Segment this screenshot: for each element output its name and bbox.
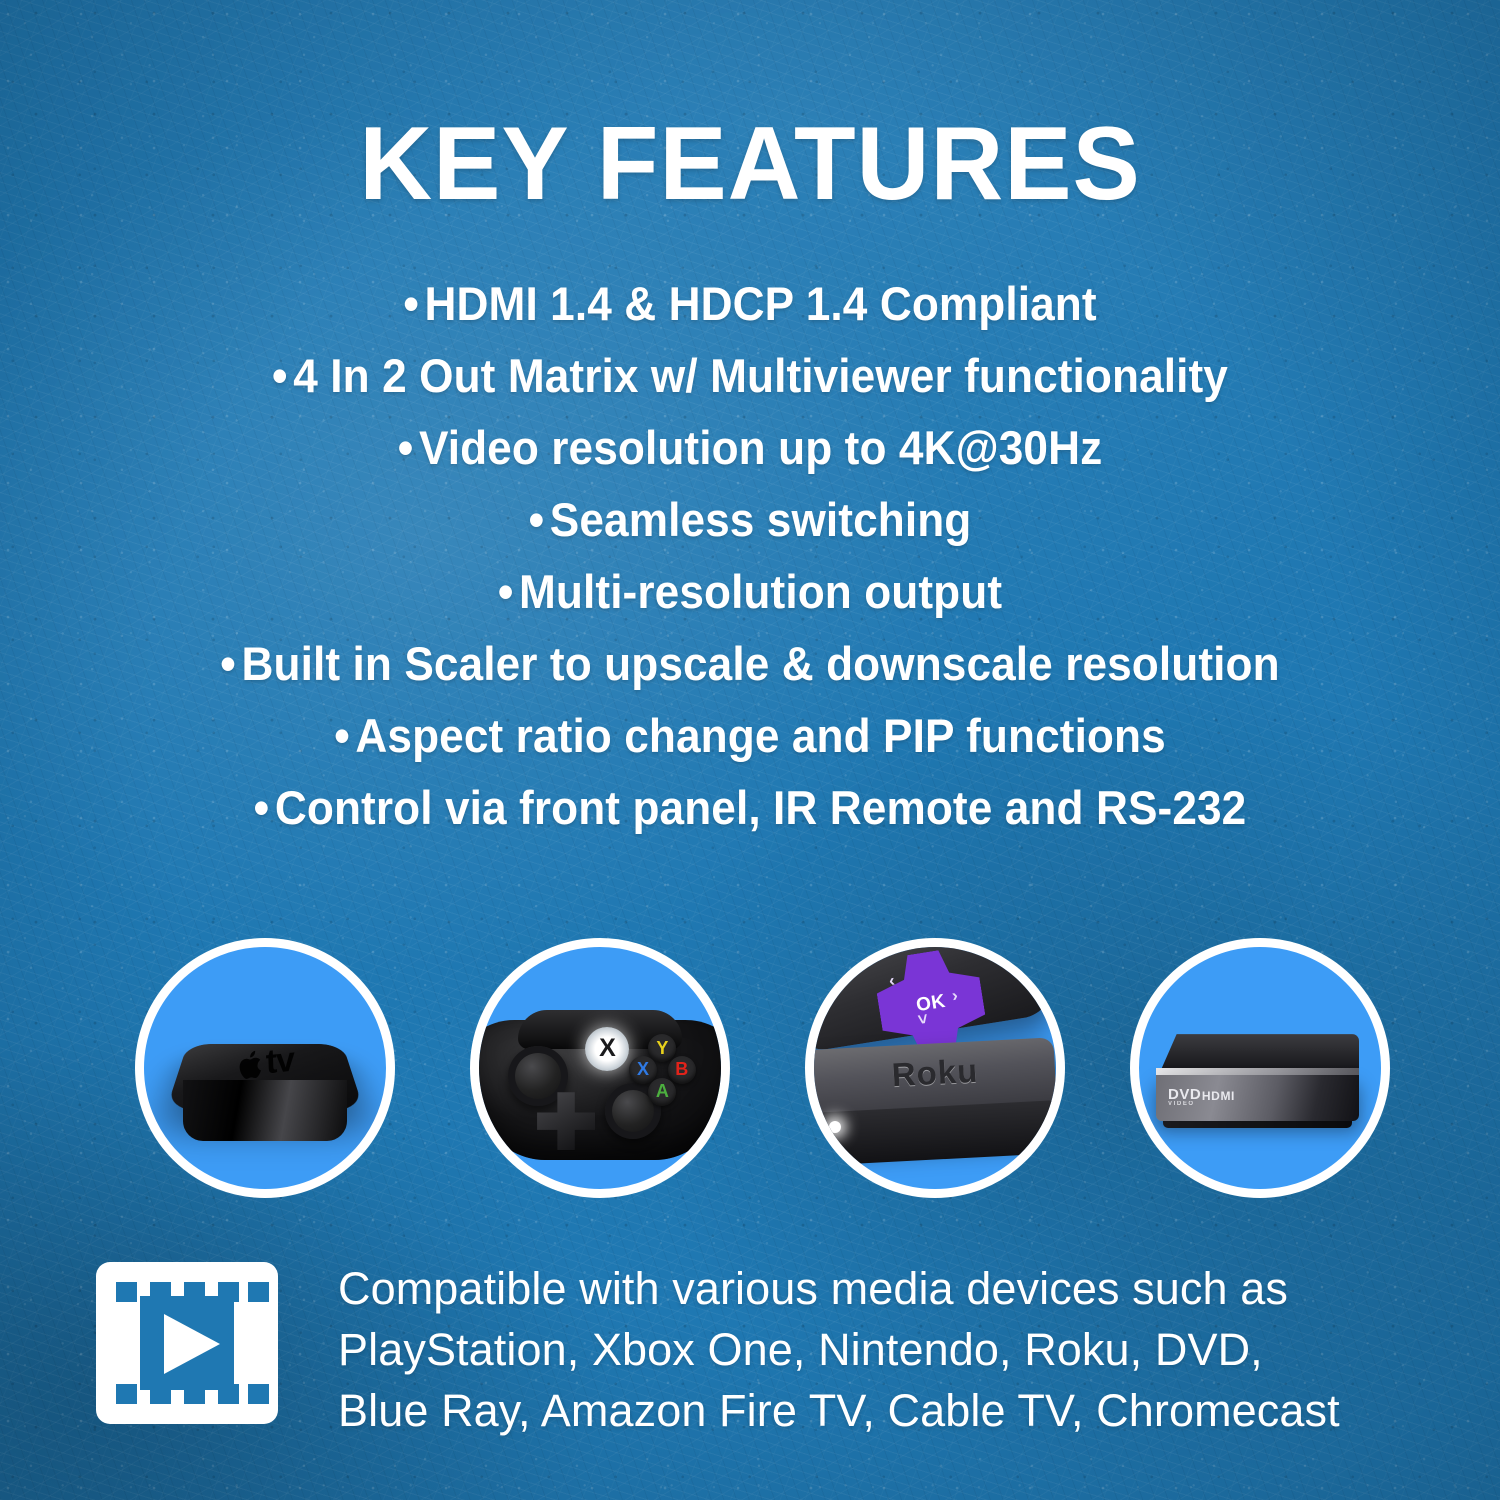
page-title: KEY FEATURES	[23, 112, 1478, 216]
device-circle-dvd-player: DVD VIDEO HDMI	[1130, 938, 1390, 1198]
hdmi-label: HDMI	[1202, 1089, 1235, 1103]
feature-list: •HDMI 1.4 & HDCP 1.4 Compliant •4 In 2 O…	[0, 268, 1500, 844]
apple-logo-icon	[235, 1047, 264, 1082]
feature-label: Seamless switching	[550, 493, 972, 546]
feature-item: •Multi-resolution output	[45, 556, 1455, 628]
apple-tv-logo-text: tv	[265, 1041, 294, 1083]
face-button-a: A	[648, 1078, 676, 1106]
compatibility-text: Compatible with various media devices su…	[338, 1258, 1340, 1441]
bullet-dot: •	[403, 277, 419, 330]
note-line-2: PlayStation, Xbox One, Nintendo, Roku, D…	[338, 1319, 1340, 1380]
feature-label: 4 In 2 Out Matrix w/ Multiviewer functio…	[293, 349, 1228, 402]
feature-item: •4 In 2 Out Matrix w/ Multiviewer functi…	[45, 340, 1455, 412]
dvd-sub-label: VIDEO	[1168, 1101, 1195, 1107]
device-circle-xbox-controller: X Y B X A	[470, 938, 730, 1198]
feature-graphic-canvas: KEY FEATURES •HDMI 1.4 & HDCP 1.4 Compli…	[0, 0, 1500, 1500]
bullet-dot: •	[529, 493, 545, 546]
roku-illustration: OK ‹ › ˅ Roku	[814, 947, 1056, 1189]
bullet-dot: •	[498, 565, 514, 618]
feature-item: •Aspect ratio change and PIP functions	[45, 700, 1455, 772]
compatibility-note: Compatible with various media devices su…	[96, 1258, 1436, 1441]
feature-item: •Built in Scaler to upscale & downscale …	[45, 628, 1455, 700]
feature-label: Control via front panel, IR Remote and R…	[275, 781, 1246, 834]
apple-tv-side-face	[183, 1080, 348, 1141]
bullet-dot: •	[272, 349, 288, 402]
device-circle-roku: OK ‹ › ˅ Roku	[805, 938, 1065, 1198]
feature-label: Video resolution up to 4K@30Hz	[419, 421, 1102, 474]
dvd-player-illustration: DVD VIDEO HDMI	[1139, 947, 1381, 1189]
apple-tv-illustration: tv	[144, 947, 386, 1189]
bullet-dot: •	[254, 781, 270, 834]
bullet-dot: •	[220, 637, 236, 690]
apple-tv-logo: tv	[235, 1041, 294, 1086]
feature-item: •Control via front panel, IR Remote and …	[45, 772, 1455, 844]
bullet-dot: •	[398, 421, 414, 474]
device-circle-apple-tv: tv	[135, 938, 395, 1198]
roku-status-led	[829, 1121, 841, 1133]
feature-label: Built in Scaler to upscale & downscale r…	[242, 637, 1280, 690]
feature-label: HDMI 1.4 & HDCP 1.4 Compliant	[425, 277, 1097, 330]
note-line-1: Compatible with various media devices su…	[338, 1258, 1340, 1319]
feature-item: •HDMI 1.4 & HDCP 1.4 Compliant	[45, 268, 1455, 340]
note-line-3: Blue Ray, Amazon Fire TV, Cable TV, Chro…	[338, 1380, 1340, 1441]
bullet-dot: •	[334, 709, 350, 762]
feature-item: •Seamless switching	[45, 484, 1455, 556]
face-button-b: B	[668, 1056, 696, 1084]
feature-label: Multi-resolution output	[519, 565, 1002, 618]
film-strip-play-icon	[96, 1262, 278, 1429]
dvd-top-panel	[1161, 1034, 1359, 1070]
feature-label: Aspect ratio change and PIP functions	[355, 709, 1165, 762]
dvd-base	[1163, 1121, 1352, 1128]
xbox-controller-illustration: X Y B X A	[479, 947, 721, 1189]
roku-wordmark: Roku	[891, 1052, 979, 1094]
xbox-logo-text: X	[599, 1036, 616, 1061]
feature-item: •Video resolution up to 4K@30Hz	[45, 412, 1455, 484]
